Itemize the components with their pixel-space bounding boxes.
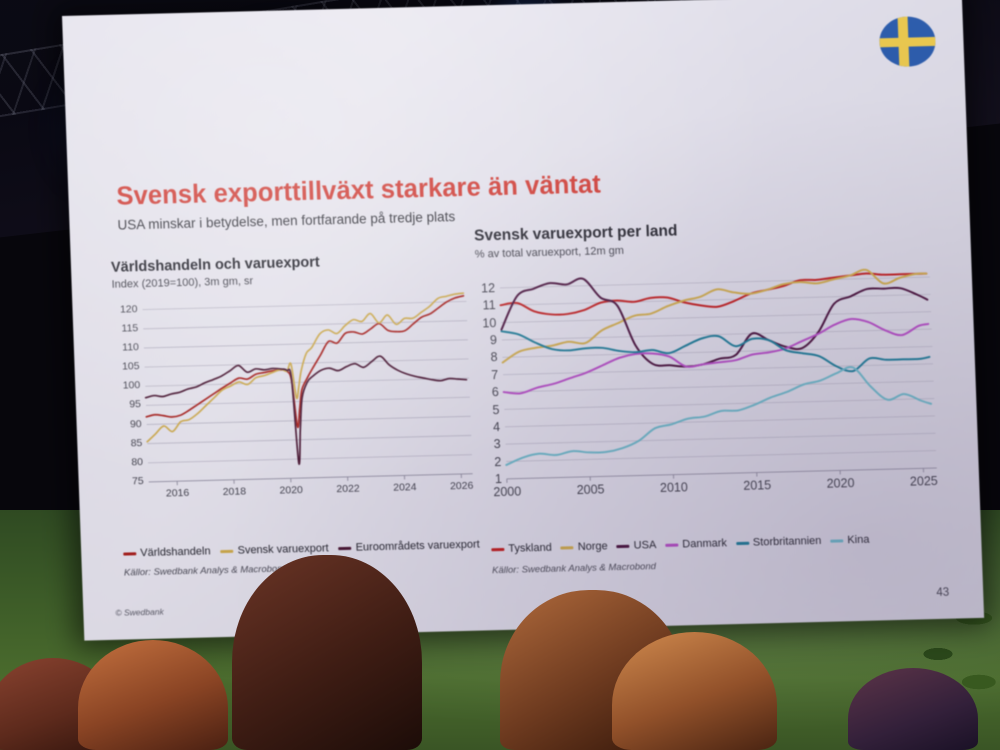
page-number: 43 [936,587,949,599]
left-chart-legend: VärldshandelnSvensk varuexportEuroområde… [123,539,480,560]
series-line-v-rldshandeln [142,296,468,431]
legend-swatch-icon [617,544,630,547]
legend-item-norge[interactable]: Norge [561,540,608,553]
legend-swatch-icon [830,539,843,542]
y-axis-tick-label: 80 [118,456,143,469]
x-axis-tick-label: 2024 [387,481,423,494]
y-axis-tick-label: 8 [478,350,497,364]
legend-swatch-icon [665,543,678,546]
stage-scene: Svensk exporttillväxt starkare än väntat… [0,0,1000,750]
svensk-varuexport-per-land-svg [475,257,943,503]
y-axis-tick-label: 10 [477,316,496,330]
chart-panel-left: Världshandeln och varuexport Index (2019… [111,251,480,507]
legend-item-danmark[interactable]: Danmark [665,537,727,551]
swedish-flag-icon [879,16,937,67]
page-subtitle: USA minskar i betydelse, men fortfarande… [117,209,455,233]
y-axis-tick-label: 110 [114,341,139,354]
legend-label: Kina [847,534,869,547]
right-chart-plot: 123456789101112200020052010201520202025 [475,257,943,503]
x-axis-tick-label: 2026 [443,480,479,493]
y-axis-tick-label: 90 [116,418,141,431]
legend-swatch-icon [491,547,504,550]
legend-item-euroomr-dets-varuexport[interactable]: Euroområdets varuexport [338,539,480,555]
y-axis-tick-label: 120 [112,303,137,316]
y-axis-tick-label: 5 [480,403,499,417]
legend-item-storbritannien[interactable]: Storbritannien [736,535,822,549]
legend-swatch-icon [221,549,234,552]
legend-item-usa[interactable]: USA [616,539,656,552]
y-axis-tick-label: 2 [482,455,501,469]
legend-label: Danmark [682,537,727,550]
right-chart-legend: TysklandNorgeUSADanmarkStorbritannienKin… [491,534,870,556]
x-axis-tick-label: 2015 [739,478,775,493]
x-axis-tick-label: 2005 [572,482,608,497]
y-axis-tick-label: 4 [481,420,500,434]
legend-label: Euroområdets varuexport [355,539,480,554]
x-axis-tick-label: 2020 [273,484,309,497]
x-axis-tick-label: 2000 [489,484,525,499]
legend-item-tyskland[interactable]: Tyskland [491,542,552,556]
series-line-storbritannien [502,320,930,380]
legend-label: Världshandeln [140,545,211,559]
audience-person-3 [232,555,422,750]
x-axis-tick-label: 2018 [216,485,252,498]
legend-swatch-icon [736,541,749,544]
page-title: Svensk exporttillväxt starkare än väntat [116,170,601,211]
y-axis-tick-label: 6 [479,385,498,399]
x-axis-tick-label: 2020 [822,476,858,491]
y-axis-tick-label: 100 [115,379,140,392]
legend-item-kina[interactable]: Kina [830,534,869,547]
y-axis-tick-label: 115 [113,322,138,335]
series-line-euroomr-dets-varuexport [144,354,469,468]
legend-label: USA [633,539,656,552]
legend-swatch-icon [561,546,574,549]
varldshandeln-och-varuexport-svg [112,288,479,507]
left-chart-plot: 7580859095100105110115120201620182020202… [112,288,479,507]
y-axis-tick-label: 95 [116,398,141,411]
x-axis-tick-label: 2025 [906,474,942,489]
x-axis-tick-label: 2016 [159,487,195,500]
y-axis-tick-label: 105 [114,360,139,373]
legend-label: Norge [578,540,608,553]
y-axis-tick-label: 75 [118,475,143,488]
legend-label: Tyskland [508,542,552,555]
legend-item-v-rldshandeln[interactable]: Världshandeln [123,545,211,559]
right-chart-source: Källor: Swedbank Analys & Macrobond [492,561,656,576]
copyright-notice: © Swedbank [115,607,164,618]
projection-screen: Svensk exporttillväxt starkare än väntat… [62,0,984,646]
series-line-svensk-varuexport [142,293,468,442]
left-chart-source: Källor: Swedbank Analys & Macrobond [124,563,288,578]
y-axis-tick-label: 11 [476,298,495,312]
chart-panel-right: Svensk varuexport per land % av total va… [474,216,954,504]
legend-swatch-icon [339,546,352,549]
y-axis-tick-label: 9 [478,333,497,347]
y-axis-tick-label: 85 [117,437,142,450]
x-axis-tick-label: 2010 [656,480,692,495]
y-axis-tick-label: 12 [476,281,495,295]
y-axis-tick-label: 7 [479,368,498,382]
legend-label: Storbritannien [753,535,822,549]
legend-swatch-icon [123,552,136,555]
x-axis-tick-label: 2022 [330,482,366,495]
y-axis-tick-label: 3 [481,437,500,451]
